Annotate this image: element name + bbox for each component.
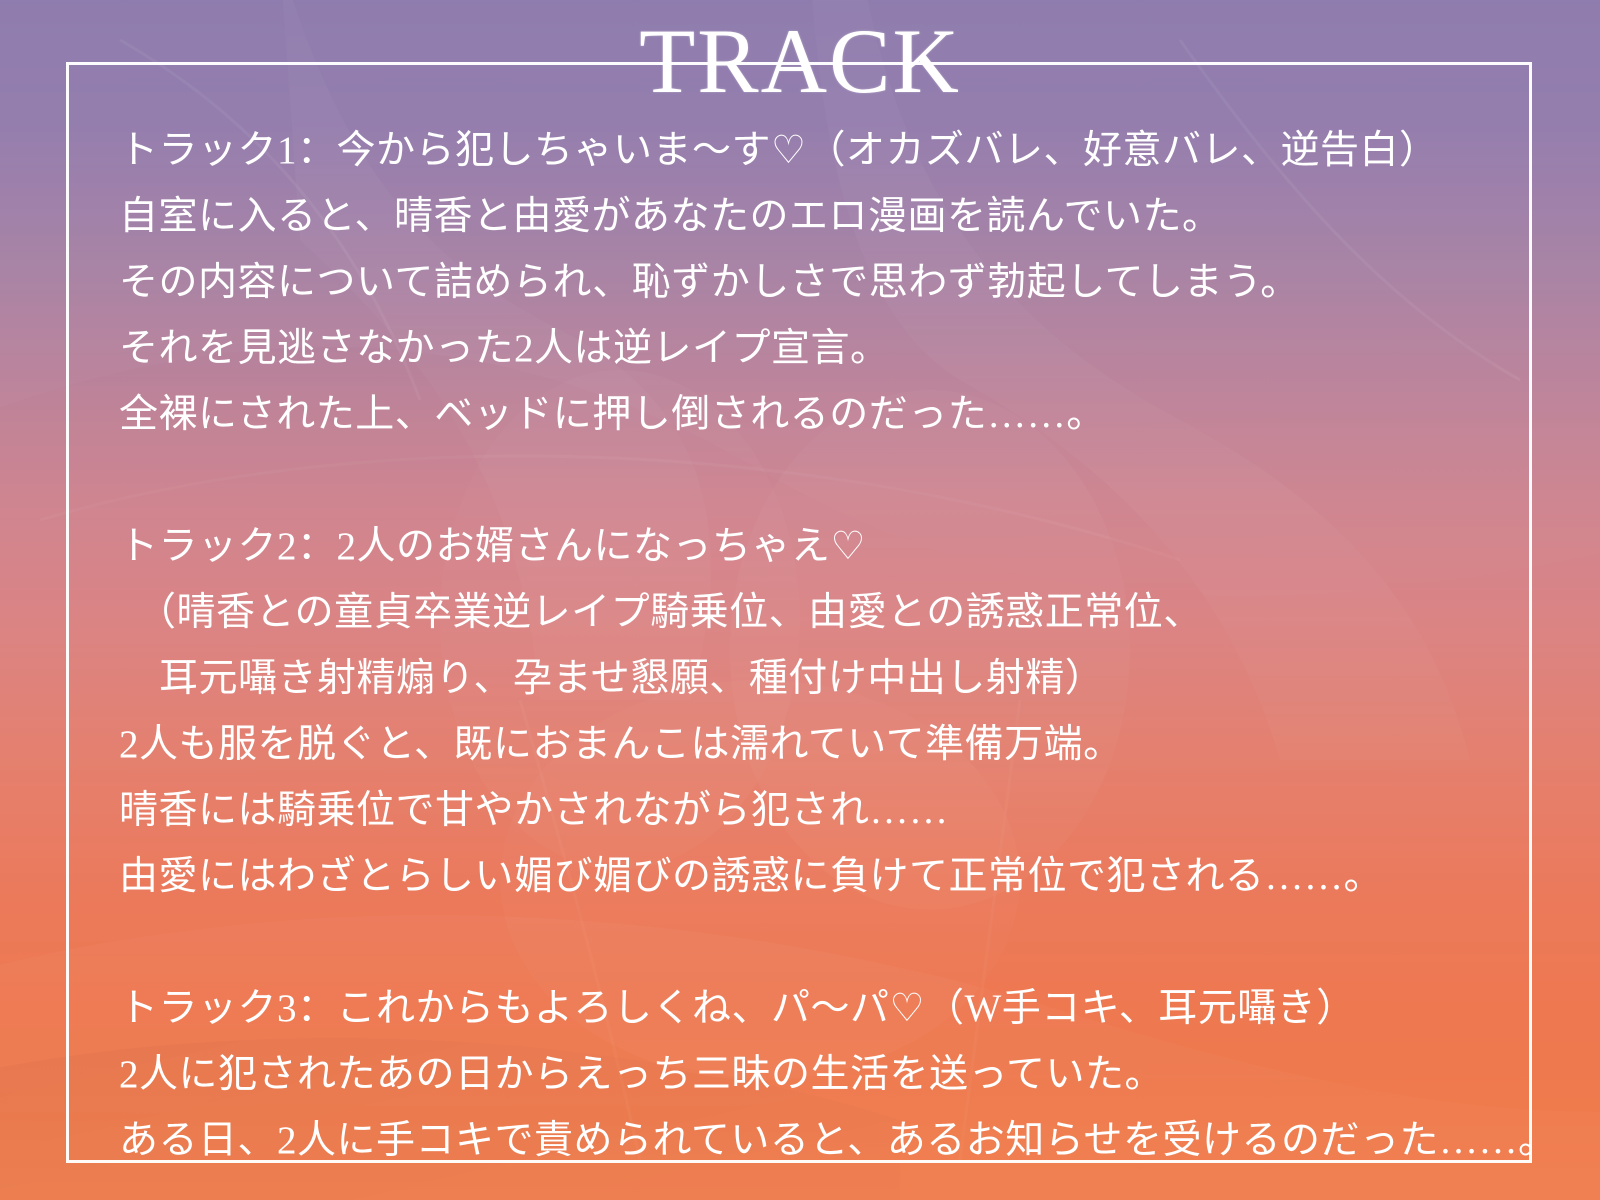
track-description-line: （晴香との童貞卒業逆レイプ騎乗位、由愛との誘惑正常位、 (119, 580, 1519, 646)
track-description-line: その内容について詰められ、恥ずかしさで思わず勃起してしまう。 (119, 250, 1519, 316)
track-separator (119, 448, 1519, 514)
track-heading: トラック2：2人のお婿さんになっちゃえ♡ (119, 514, 1519, 580)
track-listing-page: TRACK トラック1：今から犯しちゃいま～す♡（オカズバレ、好意バレ、逆告白）… (0, 0, 1600, 1200)
track-3: トラック3：これからもよろしくね、パ～パ♡（W手コキ、耳元囁き）2人に犯されたあ… (119, 976, 1519, 1174)
track-heading: トラック3：これからもよろしくね、パ～パ♡（W手コキ、耳元囁き） (119, 976, 1519, 1042)
track-description-line: 晴香には騎乗位で甘やかされながら犯され…… (119, 778, 1519, 844)
track-description-line: ある日、2人に手コキで責められていると、あるお知らせを受けるのだった……。 (119, 1108, 1519, 1174)
track-description-line: 由愛にはわざとらしい媚び媚びの誘惑に負けて正常位で犯される……。 (119, 844, 1519, 910)
track-list: トラック1：今から犯しちゃいま～す♡（オカズバレ、好意バレ、逆告白）自室に入ると… (119, 118, 1519, 1174)
page-title: TRACK (0, 11, 1600, 111)
track-description-line: 耳元囁き射精煽り、孕ませ懇願、種付け中出し射精） (119, 646, 1519, 712)
track-description-line: 2人も服を脱ぐと、既におまんこは濡れていて準備万端。 (119, 712, 1519, 778)
track-description-line: それを見逃さなかった2人は逆レイプ宣言。 (119, 316, 1519, 382)
track-description-line: 自室に入ると、晴香と由愛があなたのエロ漫画を読んでいた。 (119, 184, 1519, 250)
track-heading: トラック1：今から犯しちゃいま～す♡（オカズバレ、好意バレ、逆告白） (119, 118, 1519, 184)
track-2: トラック2：2人のお婿さんになっちゃえ♡（晴香との童貞卒業逆レイプ騎乗位、由愛と… (119, 514, 1519, 910)
track-description-line: 2人に犯されたあの日からえっち三昧の生活を送っていた。 (119, 1042, 1519, 1108)
track-description-line: 全裸にされた上、ベッドに押し倒されるのだった……。 (119, 382, 1519, 448)
track-1: トラック1：今から犯しちゃいま～す♡（オカズバレ、好意バレ、逆告白）自室に入ると… (119, 118, 1519, 448)
track-separator (119, 910, 1519, 976)
